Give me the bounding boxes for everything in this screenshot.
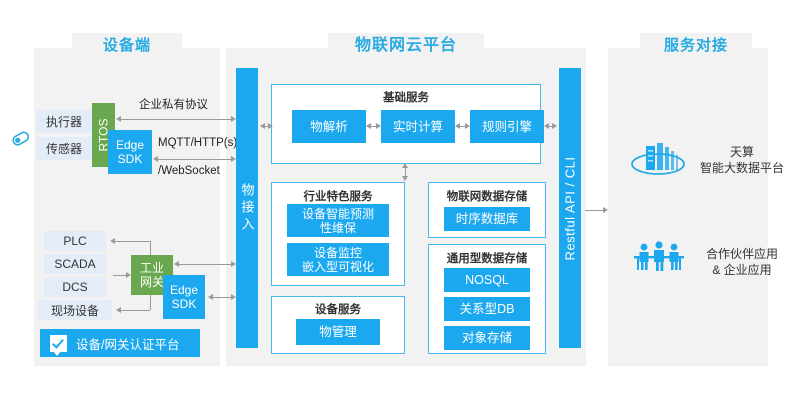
line-bracket-bottom — [118, 310, 150, 311]
cloud-ingress-label: 物接入 — [238, 183, 257, 234]
device-auth-platform-label: 设备/网关认证平台 — [76, 334, 179, 353]
predictive-maintenance-line1: 设备智能预测 — [302, 207, 374, 221]
label-private-protocol: 企业私有协议 — [139, 96, 208, 112]
arrowhead-basic-up — [402, 163, 408, 168]
arrowhead-parse-compute-left — [366, 123, 371, 129]
label-mqtt-line1: MQTT/HTTP(s) — [158, 137, 237, 149]
group-industry-service-title: 行业特色服务 — [271, 188, 405, 204]
arrowhead-private-left — [116, 116, 121, 122]
edge-sdk-top-line1: Edge — [116, 138, 144, 152]
industrial-gateway-line2: 网关 — [140, 275, 164, 289]
timeseries-db-label: 时序数据库 — [456, 212, 519, 226]
nosql-label: NOSQL — [465, 273, 509, 287]
line-to-gateway — [113, 275, 127, 276]
group-basic-service-title: 基础服务 — [271, 89, 541, 105]
service-partners-label: 合作伙伴应用 & 企业应用 — [690, 246, 794, 278]
edge-sdk-bottom-line2: SDK — [172, 297, 197, 311]
iot-architecture-diagram: 设备端 物联网云平台 服务对接 执行器 传感器 RTOS Edge SDK 企业… — [0, 0, 802, 411]
device-sensor: 传感器 — [36, 137, 92, 160]
sensor-chip-icon — [8, 126, 34, 152]
group-general-storage-title: 通用型数据存储 — [428, 250, 546, 266]
service-bigdata-label: 天算 智能大数据平台 — [690, 144, 794, 176]
line-mqtt — [155, 159, 234, 160]
arrowhead-mqtt-left — [153, 156, 158, 162]
storage-relational-db: 关系型DB — [444, 297, 530, 321]
thing-management-label: 物管理 — [319, 325, 357, 339]
device-edge-sdk-top: Edge SDK — [108, 130, 152, 174]
line-bracket-top — [112, 241, 150, 242]
device-plc: PLC — [44, 231, 106, 251]
arrowhead-ingress-basic-left — [260, 123, 265, 129]
service-parse-label: 物解析 — [310, 120, 348, 134]
arrowhead-api-service — [603, 207, 608, 213]
service-rule-engine: 规则引擎 — [470, 110, 544, 143]
storage-timeseries-db: 时序数据库 — [444, 207, 530, 231]
partners-icon — [630, 240, 688, 274]
service-device-monitoring: 设备监控 嵌入型可视化 — [287, 243, 389, 276]
device-scada: SCADA — [44, 254, 106, 274]
section-title-cloud: 物联网云平台 — [328, 33, 484, 59]
service-partners-line1: 合作伙伴应用 — [690, 246, 794, 262]
bigdata-platform-icon — [630, 138, 686, 178]
storage-object-storage: 对象存储 — [444, 326, 530, 350]
arrowhead-edgesdk-ingress-left — [208, 294, 213, 300]
service-realtime-compute: 实时计算 — [381, 110, 455, 143]
device-plc-label: PLC — [63, 234, 86, 248]
service-predictive-maintenance: 设备智能预测 性维保 — [287, 204, 389, 237]
device-actuator: 执行器 — [36, 110, 92, 133]
edge-sdk-top-line2: SDK — [118, 152, 143, 166]
arrowhead-basic-down — [402, 176, 408, 181]
service-realtime-compute-label: 实时计算 — [393, 120, 443, 134]
label-mqtt-line2: /WebSocket — [158, 165, 220, 177]
service-bigdata-line2: 智能大数据平台 — [690, 160, 794, 176]
panel-service-docking — [608, 48, 768, 366]
storage-nosql: NOSQL — [444, 268, 530, 292]
line-gateway-ingress — [176, 264, 234, 265]
device-actuator-label: 执行器 — [46, 113, 82, 130]
device-monitoring-line2: 嵌入型可视化 — [302, 260, 374, 274]
device-field-device: 现场设备 — [38, 300, 112, 320]
service-partners-line2: & 企业应用 — [690, 262, 794, 278]
device-auth-platform: 设备/网关认证平台 — [40, 329, 200, 357]
industrial-gateway-line1: 工业 — [140, 261, 164, 275]
section-title-device: 设备端 — [72, 33, 182, 59]
relational-db-label: 关系型DB — [460, 302, 515, 316]
device-edge-sdk-bottom: Edge SDK — [163, 275, 205, 319]
section-title-service: 服务对接 — [640, 33, 752, 59]
arrowhead-field-device — [116, 307, 121, 313]
cloud-ingress-bar: 物接入 — [236, 68, 258, 348]
device-scada-label: SCADA — [54, 257, 95, 271]
edge-sdk-bottom-line1: Edge — [170, 283, 198, 297]
predictive-maintenance-line2: 性维保 — [320, 221, 356, 235]
arrowhead-basic-api-left — [544, 123, 549, 129]
arrowhead-gateway-ingress-left — [174, 261, 179, 267]
line-private-protocol — [118, 119, 234, 120]
device-dcs: DCS — [44, 277, 106, 297]
cloud-api-bar: Restful API / CLI — [559, 68, 581, 348]
check-icon — [50, 335, 67, 352]
device-dcs-label: DCS — [62, 280, 87, 294]
arrowhead-compute-rule-left — [455, 123, 460, 129]
service-parse: 物解析 — [292, 110, 366, 143]
group-device-service-title: 设备服务 — [271, 301, 405, 317]
object-storage-label: 对象存储 — [462, 331, 512, 345]
group-iot-storage-title: 物联网数据存储 — [428, 188, 546, 204]
cloud-api-label: Restful API / CLI — [563, 156, 578, 260]
arrowhead-plc — [110, 238, 115, 244]
service-bigdata-line1: 天算 — [690, 144, 794, 160]
line-api-service — [585, 210, 605, 211]
device-field-device-label: 现场设备 — [51, 302, 99, 319]
device-monitoring-line1: 设备监控 — [314, 246, 362, 260]
arrowhead-basic-api-right — [552, 123, 557, 129]
service-rule-engine-label: 规则引擎 — [482, 120, 532, 134]
service-thing-management: 物管理 — [296, 319, 380, 345]
device-sensor-label: 传感器 — [46, 140, 82, 157]
arrowhead-ingress-basic-right — [268, 123, 273, 129]
